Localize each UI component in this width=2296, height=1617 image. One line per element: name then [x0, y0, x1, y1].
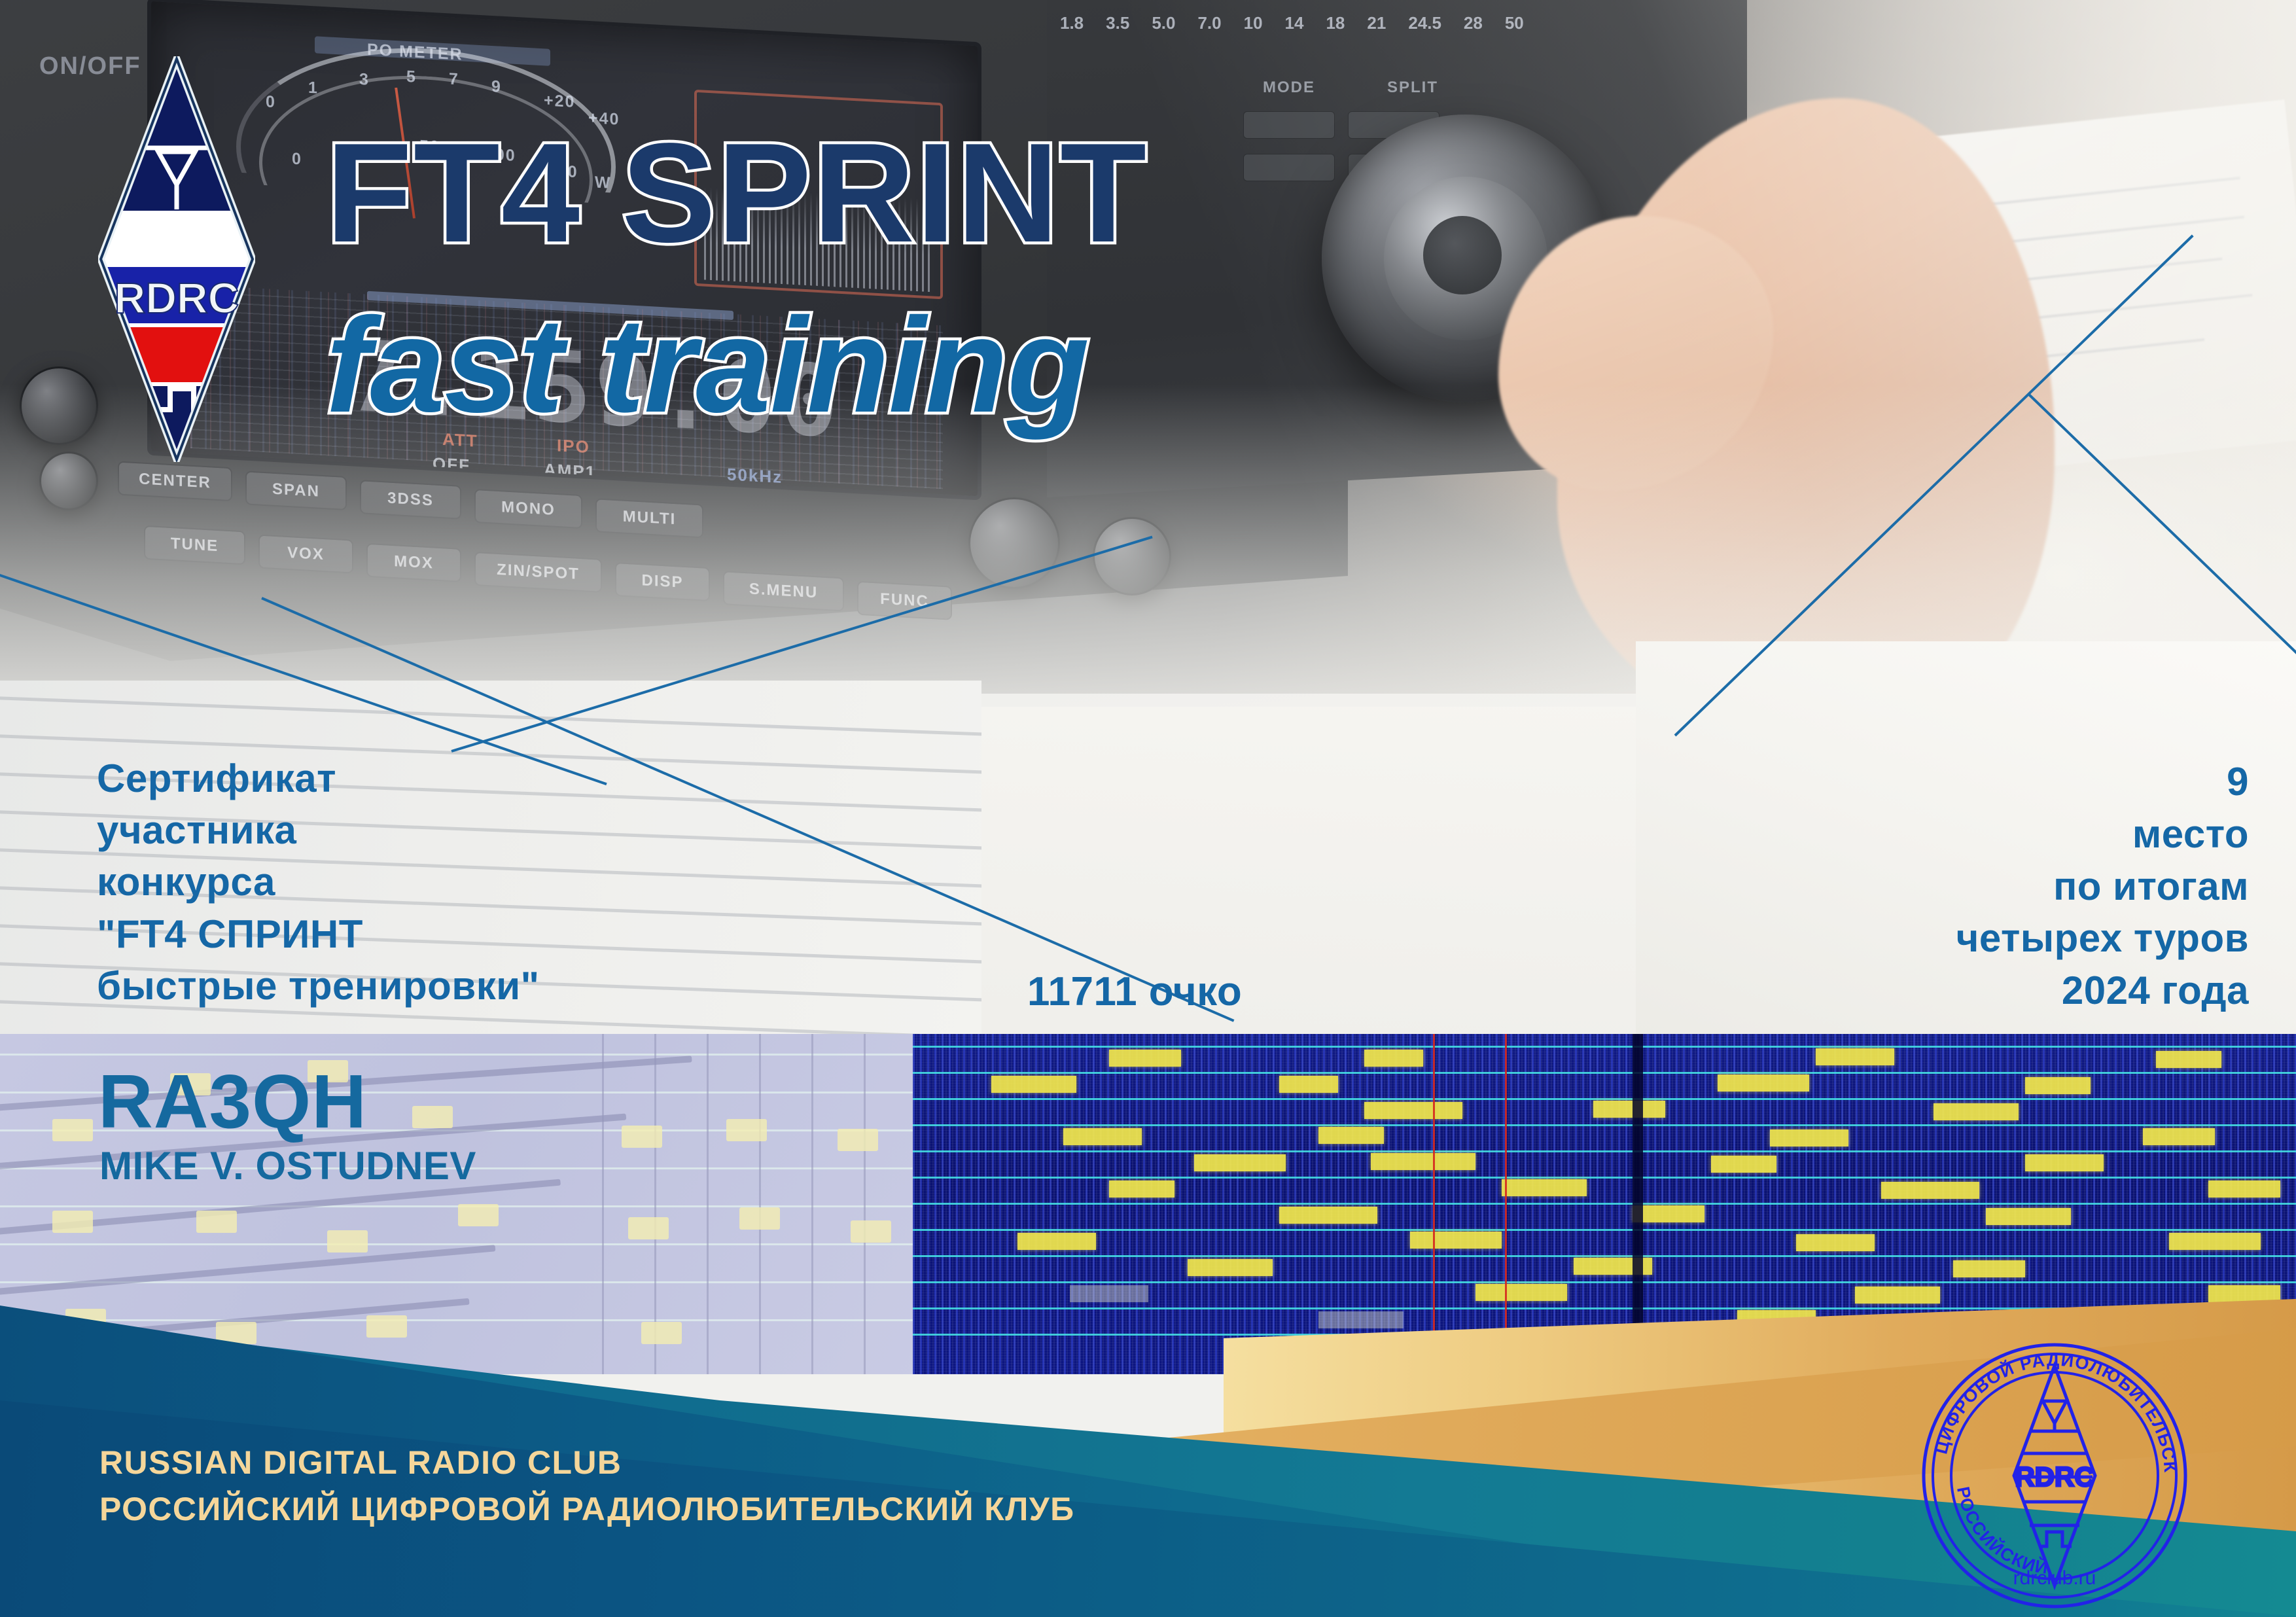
award-line-3: конкурса	[97, 856, 751, 908]
logo-band-red	[98, 327, 255, 382]
page-subtitle: fast training	[326, 288, 1089, 443]
placement-line-3: по итогам	[1956, 861, 2249, 913]
rdrc-diamond-logo: RDRC	[98, 56, 255, 462]
rdrc-rubber-stamp: ЦИФРОВОЙ РАДИОЛЮБИТЕЛЬСКИЙ КЛУБ РОССИЙСК…	[1917, 1338, 2192, 1613]
award-line-5: быстрые тренировки"	[97, 960, 751, 1012]
placement-line-5: 2024 года	[1956, 965, 2249, 1017]
footer-line-en: RUSSIAN DIGITAL RADIO CLUB	[99, 1440, 1075, 1486]
certificate-canvas: MODE RX CW SPLIT 1.8 3.5 5.0 7.0 10 14 1…	[0, 0, 2296, 1617]
footer-club-name: RUSSIAN DIGITAL RADIO CLUB РОССИЙСКИЙ ЦИ…	[99, 1440, 1075, 1533]
footer-line-ru: РОССИЙСКИЙ ЦИФРОВОЙ РАДИОЛЮБИТЕЛЬСКИЙ КЛ…	[99, 1486, 1075, 1533]
placement-rank: 9	[1956, 756, 2249, 808]
logo-wordmark: RDRC	[115, 274, 239, 322]
stamp-center-wordmark: RDRC	[2015, 1461, 2094, 1492]
award-line-4: "FT4 СПРИНТ	[97, 908, 751, 960]
recipient-callsign: RA3QH	[98, 1063, 367, 1139]
page-title: FT4 SPRINT	[326, 111, 1148, 274]
placement-text-block: 9 место по итогам четырех туров 2024 год…	[1956, 756, 2249, 1017]
award-text-block: Сертификат участника конкурса "FT4 СПРИН…	[97, 753, 751, 1012]
placement-line-2: место	[1956, 808, 2249, 861]
award-line-1: Сертификат	[97, 753, 751, 804]
placement-line-4: четырех туров	[1956, 912, 2249, 965]
award-line-2: участника	[97, 804, 751, 856]
recipient-name: MIKE V. OSTUDNEV	[99, 1146, 476, 1186]
score-value: 11711 очко	[1027, 968, 1242, 1015]
logo-band-white	[98, 211, 255, 266]
